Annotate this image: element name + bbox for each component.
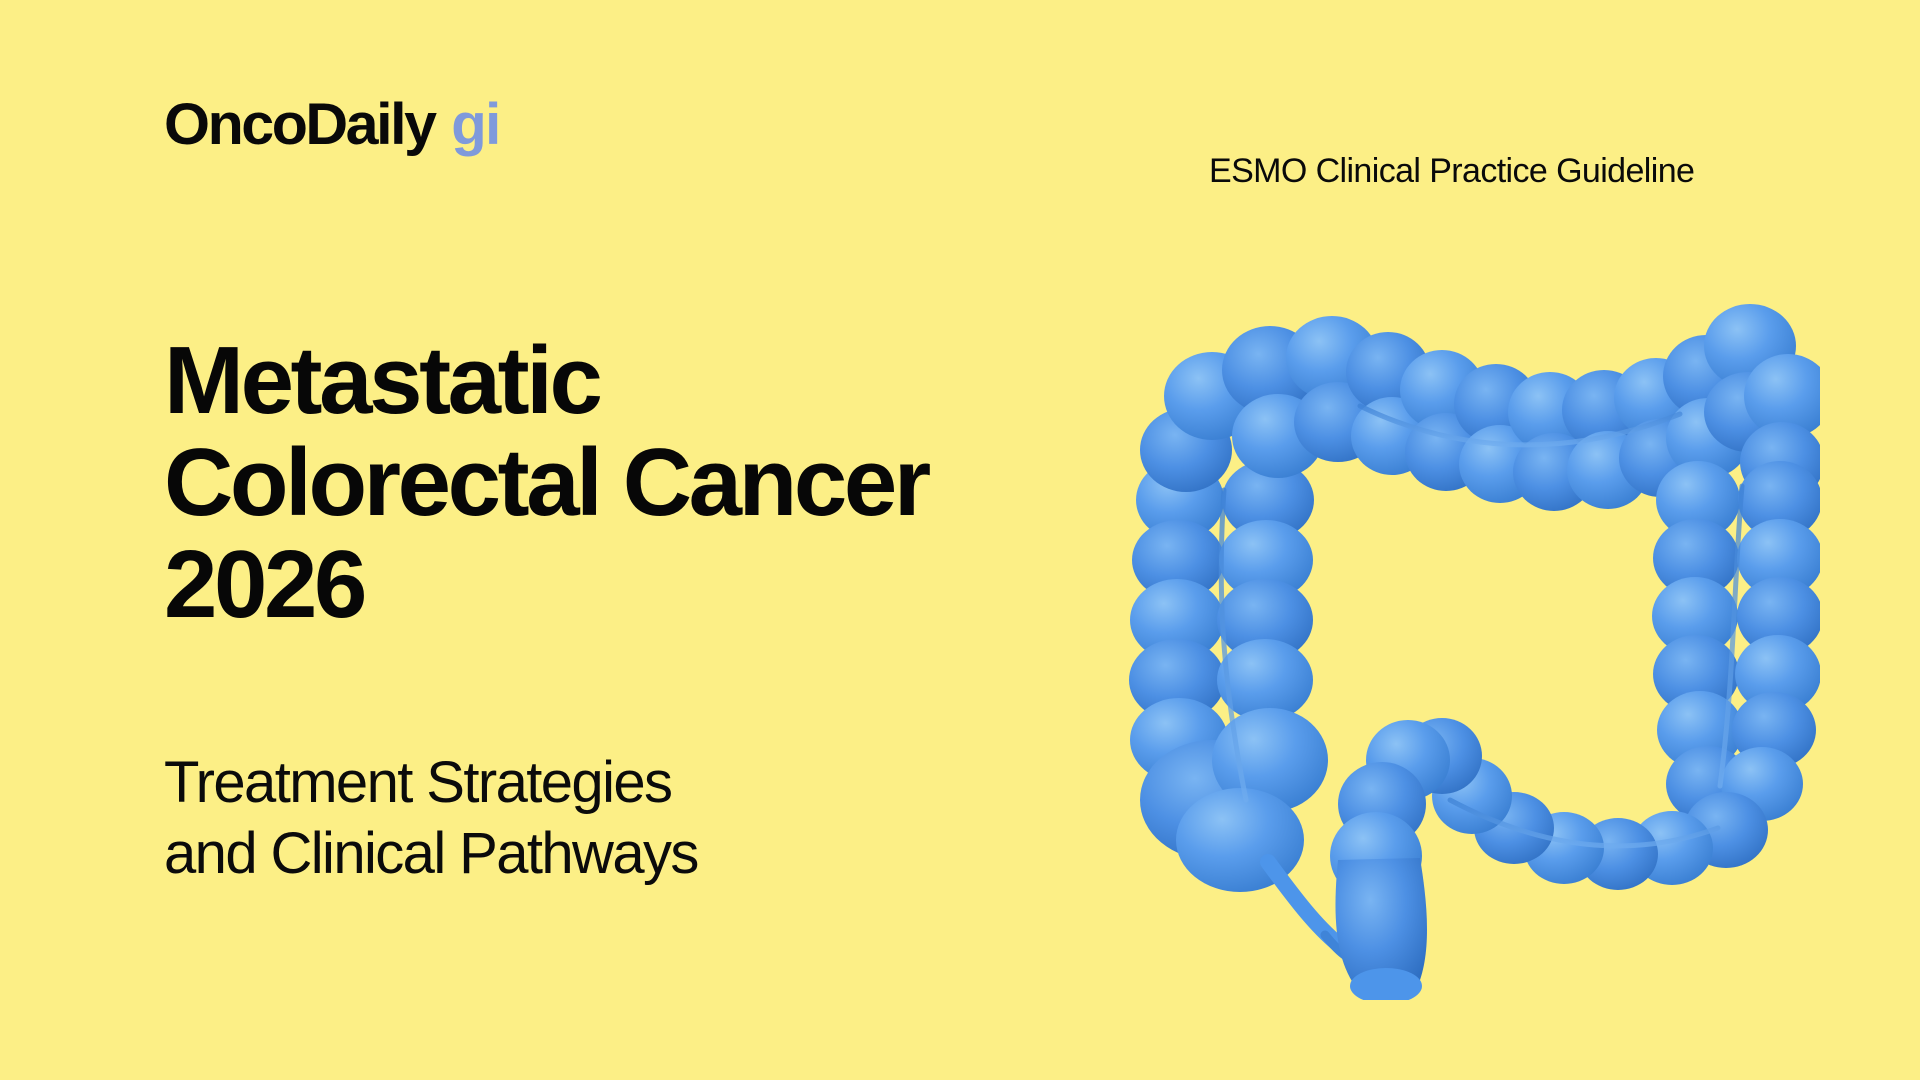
colon-haustra-group xyxy=(1129,304,1820,1000)
headline-line-2: Colorectal Cancer xyxy=(164,432,1084,534)
descending-colon xyxy=(1652,461,1820,822)
page-title: Metastatic Colorectal Cancer 2026 xyxy=(164,330,1084,635)
ascending-colon xyxy=(1129,460,1346,956)
brand-name: OncoDaily xyxy=(164,96,435,154)
hepatic-flexure xyxy=(1140,316,1382,492)
page-subtitle: Treatment Strategies and Clinical Pathwa… xyxy=(164,748,1064,890)
brand-suffix: gi xyxy=(451,96,499,154)
headline-line-1: Metastatic xyxy=(164,330,1084,432)
subtitle-line-1: Treatment Strategies xyxy=(164,748,1064,819)
headline-line-3: 2026 xyxy=(164,534,1084,636)
subtitle-line-2: and Clinical Pathways xyxy=(164,819,1064,890)
colon-illustration xyxy=(1120,200,1820,1000)
guideline-label: ESMO Clinical Practice Guideline xyxy=(1209,152,1694,191)
poster-canvas: OncoDaily gi ESMO Clinical Practice Guid… xyxy=(0,0,1920,1080)
colon-svg xyxy=(1120,200,1820,1000)
brand-logo[interactable]: OncoDaily gi xyxy=(164,96,500,154)
